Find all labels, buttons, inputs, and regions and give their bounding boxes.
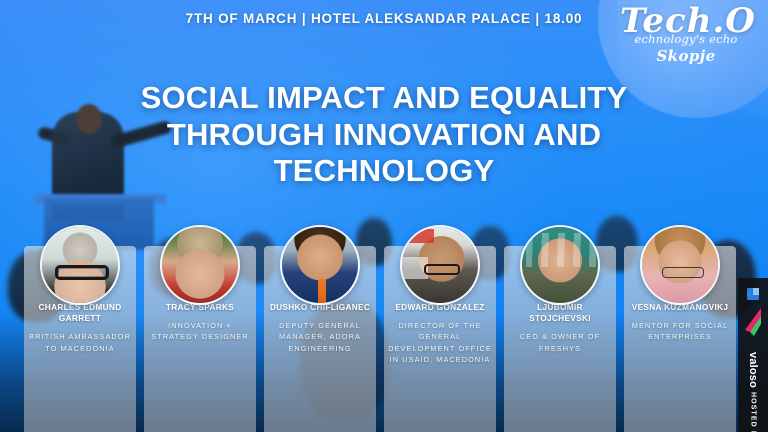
avatar [520, 225, 600, 305]
speaker-card[interactable]: LJUBOMIR STOJCHEVSKI CEO & OWNER OF FRES… [504, 246, 616, 432]
hosted-by-badge[interactable]: valoso HOSTED BY [738, 278, 768, 432]
tech-o-logo: Tech.O echnology's echo Skopje [620, 4, 752, 64]
speaker-card[interactable]: DUSHKO CHIFLIGANEC DEPUTY GENERAL MANAGE… [264, 246, 376, 432]
speaker-role: DIRECTOR OF THE GENERAL DEVELOPMENT OFFI… [384, 320, 496, 365]
valoso-brand-name: valoso [747, 352, 759, 388]
speaker-role: BRITISH AMBASSADOR TO MACEDONIA [24, 331, 136, 354]
speaker-card[interactable]: CHARLES EDMUND GARRETT BRITISH AMBASSADO… [24, 246, 136, 432]
title-line-3: TECHNOLOGY [64, 153, 704, 190]
hosted-by-label: HOSTED BY [750, 392, 757, 432]
title-line-2: THROUGH INNOVATION AND [64, 117, 704, 154]
logo-city: Skopje [620, 49, 752, 64]
avatar [40, 225, 120, 305]
speaker-card[interactable]: TRACY SPARKS INNOVATION + STRATEGY DESIG… [144, 246, 256, 432]
event-poster: 7TH OF MARCH | HOTEL ALEKSANDAR PALACE |… [0, 0, 768, 432]
poster-title: SOCIAL IMPACT AND EQUALITY THROUGH INNOV… [64, 80, 704, 190]
logo-tagline: echnology's echo [620, 34, 752, 46]
avatar [640, 225, 720, 305]
avatar [400, 225, 480, 305]
speaker-role: DEPUTY GENERAL MANAGER, ADORA ENGINEERIN… [264, 320, 376, 354]
speaker-card-list: CHARLES EDMUND GARRETT BRITISH AMBASSADO… [24, 246, 744, 432]
title-line-1: SOCIAL IMPACT AND EQUALITY [64, 80, 704, 117]
speaker-card[interactable]: EDWARD GONZALEZ DIRECTOR OF THE GENERAL … [384, 246, 496, 432]
speaker-role: INNOVATION + STRATEGY DESIGNER [144, 320, 256, 343]
speaker-name: LJUBOMIR STOJCHEVSKI [504, 302, 616, 324]
speaker-name: CHARLES EDMUND GARRETT [24, 302, 136, 324]
avatar [280, 225, 360, 305]
speaker-role: MENTOR FOR SOCIAL ENTERPRISES [624, 320, 736, 343]
valoso-logo-icon [741, 286, 765, 348]
speaker-role: CEO & OWNER OF FRESHYS [504, 331, 616, 354]
avatar [160, 225, 240, 305]
speaker-card[interactable]: VESNA KUZMANOVIKJ MENTOR FOR SOCIAL ENTE… [624, 246, 736, 432]
